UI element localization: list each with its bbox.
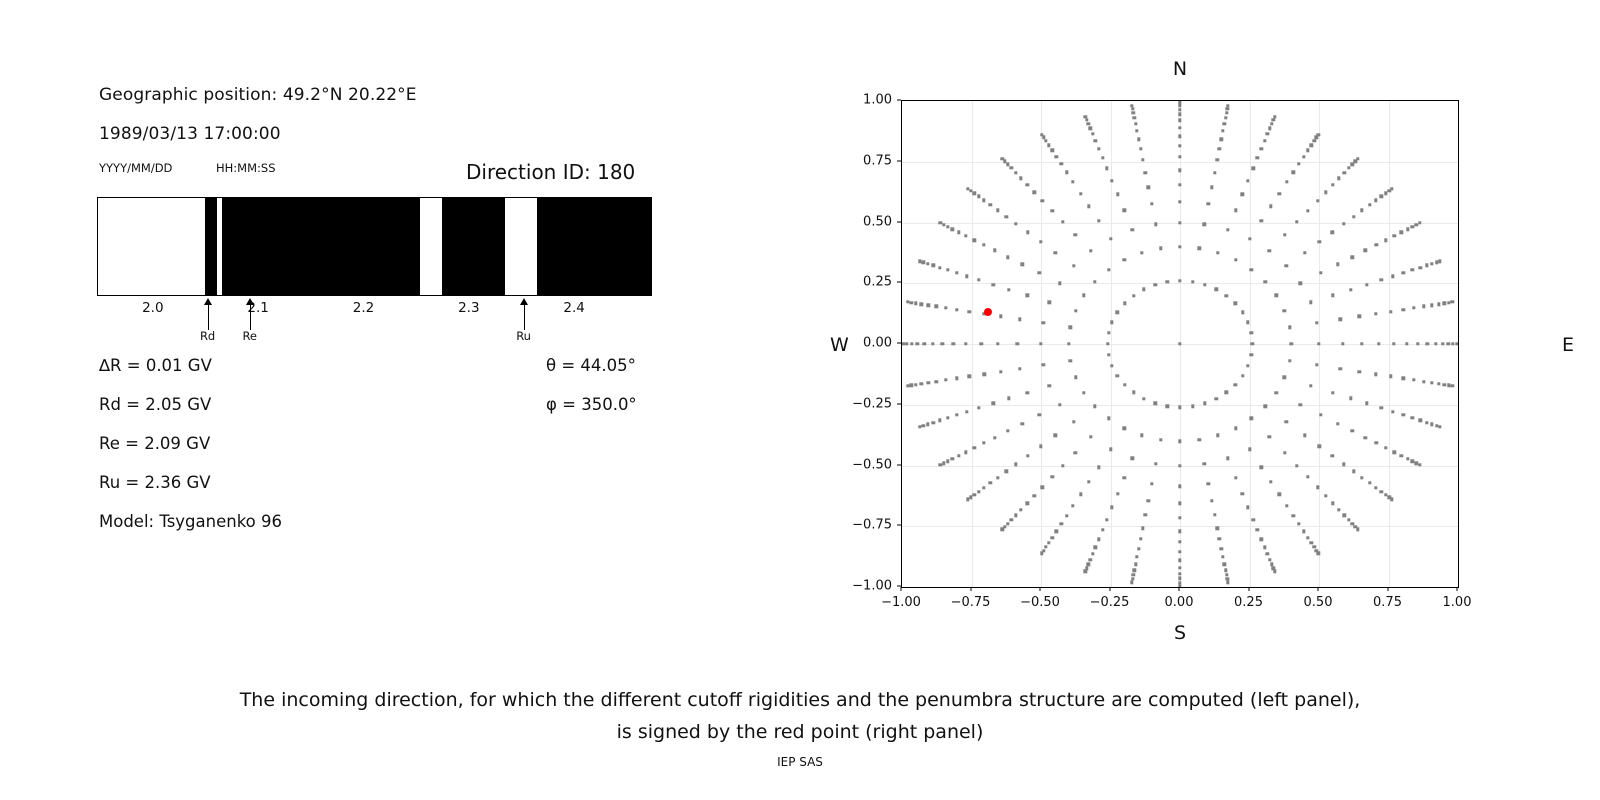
scatter-point (1342, 463, 1345, 466)
scatter-point (1074, 376, 1077, 379)
scatter-point (1178, 529, 1181, 532)
scatter-point (946, 416, 949, 419)
scatter-point (1306, 149, 1309, 152)
x-axis-tick-label: −1.00 (881, 595, 921, 610)
scatter-point (993, 436, 996, 439)
scatter-point (1141, 158, 1144, 161)
scatter-point (1224, 116, 1227, 119)
scatter-point (1050, 536, 1053, 539)
scatter-point (944, 306, 947, 309)
scatter-point (944, 378, 947, 381)
scatter-point (1135, 129, 1138, 132)
scatter-point (1299, 403, 1302, 406)
scatter-point (1360, 342, 1363, 345)
scatter-point (1069, 325, 1072, 328)
direction-scatter-plot[interactable] (901, 100, 1459, 588)
scatter-point (1123, 209, 1126, 212)
scatter-point (1312, 139, 1315, 142)
scatter-point (1178, 540, 1181, 543)
scatter-point (955, 308, 958, 311)
scatter-point (1250, 268, 1253, 271)
scatter-point (1374, 372, 1377, 375)
scatter-point (951, 227, 954, 230)
scatter-point (1411, 416, 1414, 419)
scatter-point (1260, 465, 1263, 468)
scatter-point (1338, 367, 1341, 370)
scatter-point (1007, 288, 1010, 291)
scatter-point (942, 462, 945, 465)
scatter-point (1178, 119, 1181, 122)
scatter-point (1234, 258, 1237, 261)
scatter-point (1178, 169, 1181, 172)
scatter-point (1041, 321, 1044, 324)
scatter-point (967, 375, 970, 378)
scatter-point (1316, 199, 1319, 202)
scatter-point (1318, 240, 1321, 243)
scatter-point (1350, 255, 1353, 258)
scatter-point (1234, 383, 1237, 386)
scatter-point (1426, 342, 1429, 345)
scatter-point (1234, 209, 1237, 212)
value-phi: φ = 350.0° (546, 395, 637, 414)
scatter-point (1252, 518, 1255, 521)
scatter-point (1289, 342, 1292, 345)
scatter-point (1285, 180, 1288, 183)
scatter-point (982, 441, 985, 444)
scatter-point (1316, 486, 1319, 489)
scatter-point (1278, 192, 1281, 195)
scatter-point (1337, 508, 1340, 511)
scatter-point (1097, 538, 1100, 541)
scatter-point (1044, 139, 1047, 142)
figure-caption: The incoming direction, for which the di… (0, 684, 1600, 748)
scatter-point (973, 493, 976, 496)
scatter-point (1093, 405, 1096, 408)
scatter-point (1040, 133, 1043, 136)
scatter-point (1285, 420, 1288, 423)
scatter-point (1234, 476, 1237, 479)
scatter-point (1019, 177, 1022, 180)
scatter-point (1246, 506, 1249, 509)
scatter-point (1315, 363, 1318, 366)
scatter-point (1220, 547, 1223, 550)
scatter-point (1178, 245, 1181, 248)
scatter-point (1331, 391, 1334, 394)
scatter-point (1178, 104, 1181, 107)
scatter-point (1331, 183, 1334, 186)
datetime-label: 1989/03/13 17:00:00 (99, 124, 281, 144)
scatter-point (957, 454, 960, 457)
scatter-point (1331, 294, 1334, 297)
scatter-point (1107, 268, 1110, 271)
x-axis-tick-mark (901, 587, 902, 591)
scatter-point (1447, 342, 1450, 345)
scatter-point (1047, 541, 1050, 544)
scatter-point (1331, 454, 1334, 457)
scatter-point (1352, 215, 1355, 218)
x-axis-tick-mark (1248, 587, 1249, 591)
time-format-hint: HH:MM:SS (216, 161, 276, 175)
scatter-point (1365, 402, 1368, 405)
scatter-point (1234, 426, 1237, 429)
scatter-point (1069, 359, 1072, 362)
y-axis-tick-label: −0.75 (852, 518, 892, 533)
scatter-point (1166, 280, 1169, 283)
scatter-point (1007, 397, 1010, 400)
scatter-point (1131, 107, 1134, 110)
scatter-point (1263, 405, 1266, 408)
scatter-point (1315, 321, 1318, 324)
x-axis-tick-mark (1109, 587, 1110, 591)
scatter-point (1026, 454, 1029, 457)
scatter-point (1000, 157, 1003, 160)
scatter-point (1224, 568, 1227, 571)
scatter-point (1021, 422, 1024, 425)
scatter-point (1349, 397, 1352, 400)
scatter-point (1005, 215, 1008, 218)
scatter-point (1351, 163, 1354, 166)
scatter-point (1159, 247, 1162, 250)
scatter-point (1430, 381, 1433, 384)
scatter-point (1331, 501, 1334, 504)
scatter-point (1014, 171, 1017, 174)
scatter-point (1140, 434, 1143, 437)
value-re: Re = 2.09 GV (99, 434, 210, 453)
y-axis-tick-label: −1.00 (852, 579, 892, 594)
scatter-point (1178, 113, 1181, 116)
scatter-point (946, 268, 949, 271)
scatter-point (1418, 463, 1421, 466)
scatter-point (1268, 127, 1271, 130)
penumbra-bar (97, 197, 652, 296)
scatter-point (992, 402, 995, 405)
scatter-point (1061, 220, 1064, 223)
scatter-point (1380, 490, 1383, 493)
x-axis-tick-label: −0.25 (1090, 595, 1130, 610)
scatter-point (918, 425, 921, 428)
scatter-point (1310, 541, 1313, 544)
x-axis-tick-mark (1387, 587, 1388, 591)
scatter-point (1147, 499, 1150, 502)
scatter-point (1215, 527, 1218, 530)
scatter-point (1041, 486, 1044, 489)
scatter-point (1134, 562, 1137, 565)
scatter-point (1241, 311, 1244, 314)
compass-north-label: N (1173, 58, 1187, 80)
scatter-point (1116, 193, 1119, 196)
penumbra-forbidden-band (442, 198, 504, 295)
scatter-point (1285, 264, 1288, 267)
scatter-point (972, 238, 975, 241)
scatter-point (1058, 403, 1061, 406)
scatter-point (1014, 463, 1017, 466)
y-axis-tick-label: 1.00 (863, 93, 892, 108)
y-axis-tick-mark (897, 100, 901, 101)
scatter-point (926, 422, 929, 425)
scatter-point (1087, 480, 1090, 483)
scatter-point (1252, 166, 1255, 169)
scatter-point (1051, 209, 1054, 212)
scatter-point (996, 342, 999, 345)
scatter-point (1365, 283, 1368, 286)
scatter-point (1110, 506, 1113, 509)
scatter-point (1094, 139, 1097, 142)
scatter-point (1263, 546, 1266, 549)
scatter-point (1110, 321, 1113, 324)
scatter-point (1037, 271, 1040, 274)
scatter-point (1221, 555, 1224, 558)
scatter-point (1249, 331, 1252, 334)
scatter-point (920, 382, 923, 385)
scatter-point (1437, 302, 1440, 305)
scatter-point (964, 342, 967, 345)
scatter-point (1234, 302, 1237, 305)
scatter-point (1085, 118, 1088, 121)
scatter-point (1275, 391, 1278, 394)
scatter-point (1319, 413, 1322, 416)
compass-west-label: W (830, 334, 849, 356)
scatter-point (964, 450, 967, 453)
penumbra-forbidden-band (222, 198, 420, 295)
scatter-point (1292, 171, 1295, 174)
scatter-point (1225, 391, 1228, 394)
scatter-point (1037, 413, 1040, 416)
scatter-point (952, 342, 955, 345)
scatter-point (1256, 528, 1259, 531)
y-axis-tick-mark (897, 525, 901, 526)
gridline-horizontal (902, 283, 1458, 284)
footer-label: IEP SAS (0, 755, 1600, 769)
scatter-point (1178, 144, 1181, 147)
scatter-point (1097, 219, 1100, 222)
scatter-point (1123, 426, 1126, 429)
value-model: Model: Tsyganenko 96 (99, 512, 282, 531)
scatter-point (1220, 138, 1223, 141)
scatter-point (1116, 374, 1119, 377)
scatter-point (983, 372, 986, 375)
scatter-point (931, 421, 934, 424)
scatter-point (918, 260, 921, 263)
scatter-point (999, 370, 1002, 373)
scatter-point (1379, 278, 1382, 281)
scatter-point (1214, 288, 1217, 291)
scatter-point (1071, 180, 1074, 183)
scatter-point (1226, 104, 1229, 107)
scatter-point (1048, 301, 1051, 304)
scatter-point (1159, 438, 1162, 441)
scatter-point (1241, 492, 1244, 495)
scatter-point (1411, 460, 1414, 463)
scatter-point (1055, 530, 1058, 533)
scatter-point (1364, 436, 1367, 439)
scatter-point (1178, 572, 1181, 575)
scatter-point (1318, 445, 1321, 448)
scatter-point (992, 283, 995, 286)
scatter-point (1123, 476, 1126, 479)
scatter-point (1178, 221, 1181, 224)
scatter-point (1041, 199, 1044, 202)
scatter-point (1260, 147, 1263, 150)
scatter-point (1131, 456, 1134, 459)
scatter-point (946, 460, 949, 463)
scatter-point (1268, 435, 1271, 438)
penumbra-tick-label: 2.4 (563, 300, 584, 316)
scatter-point (1306, 536, 1309, 539)
scatter-point (1137, 138, 1140, 141)
scatter-point (1105, 166, 1108, 169)
scatter-point (1026, 183, 1029, 186)
scatter-point (922, 261, 925, 264)
scatter-point (1089, 435, 1092, 438)
scatter-point (1283, 451, 1286, 454)
scatter-point (1018, 367, 1021, 370)
scatter-point (1225, 111, 1228, 114)
scatter-point (1178, 501, 1181, 504)
scatter-point (1337, 177, 1340, 180)
scatter-point (1380, 195, 1383, 198)
scatter-point (935, 305, 938, 308)
scatter-point (1412, 378, 1415, 381)
scatter-point (1131, 228, 1134, 231)
scatter-point (1295, 464, 1298, 467)
penumbra-forbidden-band (205, 198, 217, 295)
scatter-point (1087, 563, 1090, 566)
scatter-point (1107, 353, 1110, 356)
scatter-point (1215, 158, 1218, 161)
scatter-point (1266, 552, 1269, 555)
scatter-point (1273, 115, 1276, 118)
scatter-point (1273, 570, 1276, 573)
scatter-point (938, 266, 941, 269)
scatter-point (1082, 391, 1085, 394)
scatter-point (909, 301, 912, 304)
y-axis-tick-mark (897, 464, 901, 465)
scatter-point (1014, 222, 1017, 225)
scatter-point (926, 262, 929, 265)
scatter-point (1246, 179, 1249, 182)
scatter-point (1203, 283, 1206, 286)
scatter-point (1241, 374, 1244, 377)
scatter-point (1226, 456, 1229, 459)
scatter-point (1405, 342, 1408, 345)
scatter-point (1178, 566, 1181, 569)
scatter-point (1059, 162, 1062, 165)
caption-line-1: The incoming direction, for which the di… (0, 684, 1600, 716)
penumbra-tick-label: 2.2 (353, 300, 374, 316)
scatter-point (1147, 186, 1150, 189)
scatter-point (1079, 192, 1082, 195)
scatter-point (1191, 405, 1194, 408)
scatter-point (1295, 220, 1298, 223)
scatter-point (1110, 364, 1113, 367)
arrow-shaft (524, 302, 525, 330)
scatter-point (1374, 486, 1377, 489)
scatter-point (1082, 294, 1085, 297)
scatter-point (1306, 475, 1309, 478)
compass-east-label: E (1562, 334, 1574, 356)
scatter-point (1377, 342, 1380, 345)
scatter-point (1019, 508, 1022, 511)
scatter-point (1166, 405, 1169, 408)
scatter-point (1283, 376, 1286, 379)
scatter-point (1391, 410, 1394, 413)
y-axis-tick-label: 0.25 (863, 275, 892, 290)
scatter-point (1130, 580, 1133, 583)
scatter-point (1451, 384, 1454, 387)
scatter-point (1275, 294, 1278, 297)
x-axis-tick-label: 0.00 (1165, 595, 1194, 610)
scatter-point (1411, 268, 1414, 271)
scatter-point (1178, 516, 1181, 519)
y-axis-tick-mark (897, 403, 901, 404)
scatter-point (1223, 122, 1226, 125)
scatter-point (1132, 573, 1135, 576)
scatter-point (931, 264, 934, 267)
scatter-point (977, 490, 980, 493)
scatter-point (1256, 156, 1259, 159)
penumbra-marker-label: Rd (200, 329, 215, 343)
scatter-point (1283, 309, 1286, 312)
scatter-point (1084, 570, 1087, 573)
scatter-point (910, 342, 913, 345)
scatter-point (1411, 225, 1414, 228)
scatter-point (1094, 546, 1097, 549)
scatter-point (1343, 514, 1346, 517)
scatter-point (1400, 231, 1403, 234)
scatter-point (1324, 191, 1327, 194)
scatter-point (1343, 171, 1346, 174)
scatter-point (916, 342, 919, 345)
x-axis-tick-label: −0.75 (951, 595, 991, 610)
scatter-point (1268, 558, 1271, 561)
scatter-point (1303, 251, 1306, 254)
scatter-point (1226, 107, 1229, 110)
value-delta-r: ∆R = 0.01 GV (99, 356, 212, 375)
scatter-point (1441, 342, 1444, 345)
scatter-point (923, 342, 926, 345)
scatter-point (1263, 139, 1266, 142)
scatter-point (1226, 228, 1229, 231)
scatter-point (1419, 266, 1422, 269)
scatter-point (1074, 233, 1077, 236)
selected-direction-marker[interactable] (984, 308, 992, 316)
scatter-point (1419, 419, 1422, 422)
value-theta: θ = 44.05° (546, 356, 636, 375)
scatter-point (1270, 563, 1273, 566)
scatter-point (1268, 249, 1271, 252)
scatter-point (1349, 288, 1352, 291)
scatter-point (1422, 380, 1425, 383)
scatter-point (1087, 122, 1090, 125)
scatter-point (935, 380, 938, 383)
scatter-point (939, 221, 942, 224)
scatter-point (1140, 251, 1143, 254)
value-rd: Rd = 2.05 GV (99, 395, 211, 414)
scatter-point (1116, 492, 1119, 495)
scatter-point (1065, 514, 1068, 517)
scatter-point (1055, 155, 1058, 158)
scatter-point (1250, 417, 1253, 420)
scatter-point (1142, 397, 1145, 400)
scatter-point (1210, 499, 1213, 502)
scatter-point (1014, 514, 1017, 517)
scatter-point (977, 195, 980, 198)
scatter-point (1123, 258, 1126, 261)
scatter-point (922, 424, 925, 427)
scatter-point (1033, 494, 1036, 497)
scatter-point (1375, 441, 1378, 444)
scatter-point (1178, 342, 1181, 345)
